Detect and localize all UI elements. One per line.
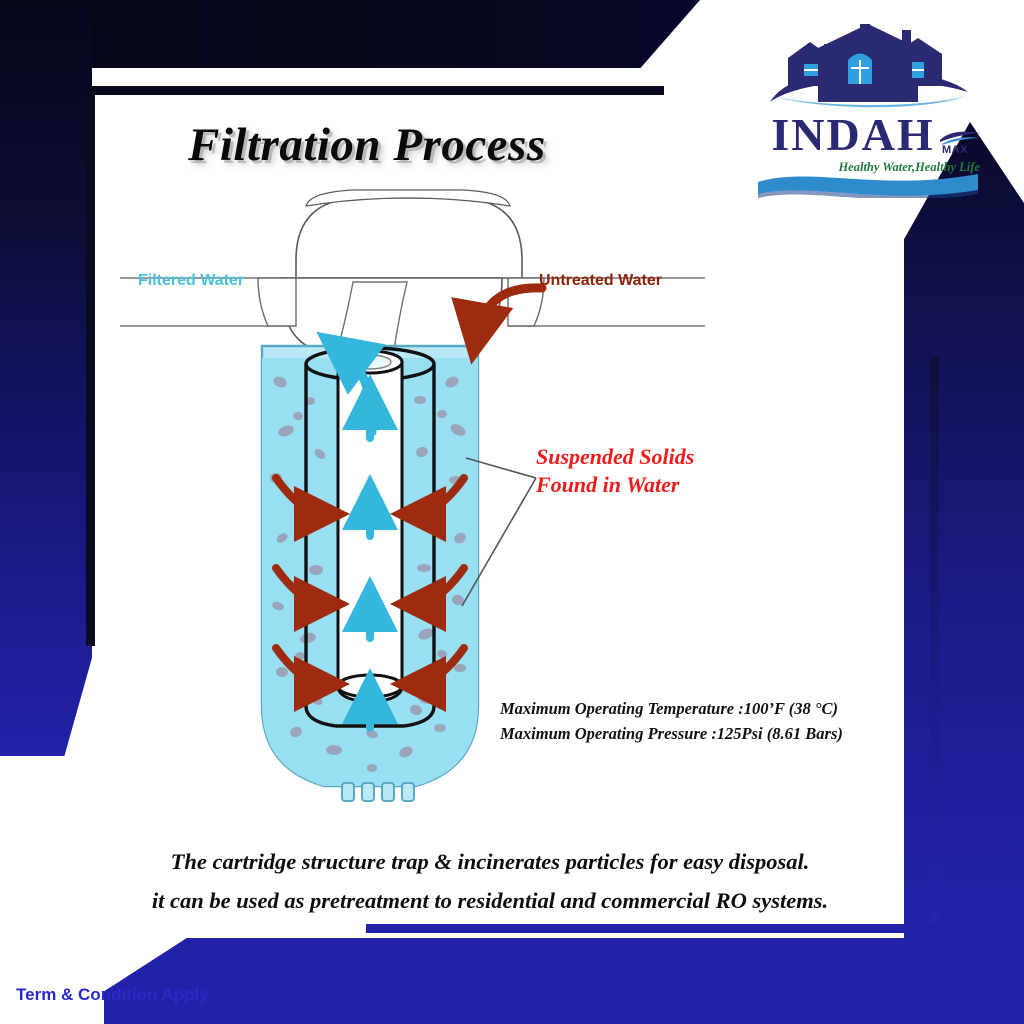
label-untreated-water: Untreated Water	[539, 272, 662, 290]
water-wave-icon	[938, 128, 982, 146]
frame-line-left	[86, 86, 95, 646]
background-band-top-left	[0, 0, 700, 68]
logo-wordmark: INDAH	[760, 112, 946, 158]
filter-head-cap	[280, 190, 522, 362]
suspended-solids-line-2: Found in Water	[536, 471, 694, 499]
logo-underline-wave-icon	[752, 168, 984, 198]
suspended-solids-line-1: Suspended Solids	[536, 443, 694, 471]
terms-and-conditions-note: Term & Condition Apply	[16, 985, 209, 1005]
caption-block: The cartridge structure trap & incinerat…	[40, 842, 940, 921]
background-band-left	[0, 0, 92, 756]
label-suspended-solids: Suspended Solids Found in Water	[536, 443, 694, 499]
poster-canvas: Filtration Process INDAH MAX Healthy Wat…	[0, 0, 1024, 1024]
caption-line-2: it can be used as pretreatment to reside…	[40, 881, 940, 920]
background-band-bottom	[104, 938, 1024, 1024]
brand-logo: INDAH MAX Healthy Water,Healthy Life	[752, 24, 984, 184]
label-filtered-water: Filtered Water	[138, 272, 244, 290]
frame-line-top	[86, 86, 664, 95]
caption-line-1: The cartridge structure trap & incinerat…	[40, 842, 940, 881]
specification-block: Maximum Operating Temperature :100’F (38…	[500, 696, 843, 746]
spec-max-temperature: Maximum Operating Temperature :100’F (38…	[500, 696, 843, 721]
spec-max-pressure: Maximum Operating Pressure :125Psi (8.61…	[500, 721, 843, 746]
page-title: Filtration Process	[188, 118, 546, 172]
frame-line-bottom	[366, 924, 939, 933]
